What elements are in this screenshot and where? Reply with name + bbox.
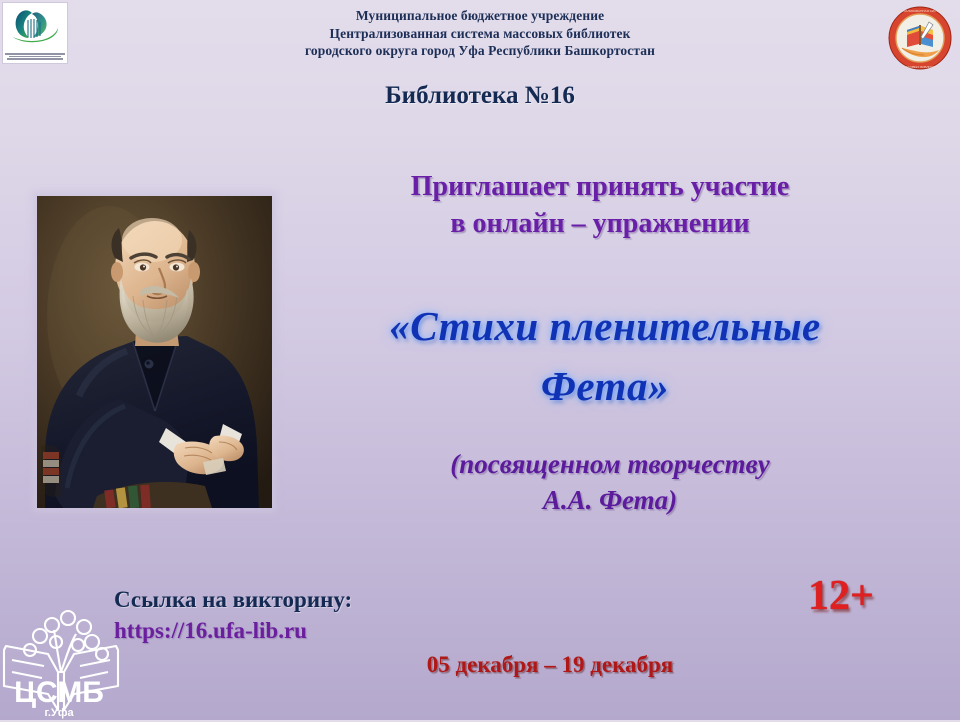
csmb-logo: ЦСМБ г.Уфа (0, 598, 126, 722)
quiz-link-label: Ссылка на викторину: (114, 585, 352, 615)
org-line-3: городского округа город Уфа Республики Б… (0, 42, 960, 60)
age-rating-badge: 12+ (808, 572, 874, 620)
library-number: Библиотека №16 (0, 82, 960, 110)
event-dates: 05 декабря – 19 декабря (290, 652, 810, 678)
invitation-line-2: в онлайн – упражнении (290, 205, 910, 242)
invitation-text: Приглашает принять участие в онлайн – уп… (290, 168, 910, 242)
csmb-abbr: ЦСМБ (14, 676, 104, 709)
quiz-link-url[interactable]: https://16.ufa-lib.ru (114, 615, 352, 646)
svg-text:МАССОВЫХ БИБЛИОТЕК: МАССОВЫХ БИБЛИОТЕК (901, 65, 939, 69)
org-line-1: Муниципальное бюджетное учреждение (0, 7, 960, 25)
org-line-2: Централизованная система массовых библио… (0, 25, 960, 43)
csmb-city: г.Уфа (44, 707, 74, 719)
event-subtitle-line-1: (посвященном творчеству (300, 446, 920, 482)
event-title: «Стихи пленительные Фета» (290, 296, 920, 416)
event-title-line-2: Фета» (290, 356, 920, 416)
invitation-line-1: Приглашает принять участие (290, 168, 910, 205)
organization-header: Муниципальное бюджетное учреждение Центр… (0, 7, 960, 60)
event-subtitle-line-2: А.А. Фета) (300, 482, 920, 518)
event-subtitle: (посвященном творчеству А.А. Фета) (300, 446, 920, 518)
fet-portrait (37, 196, 272, 508)
event-title-line-1: «Стихи пленительные (290, 296, 920, 356)
quiz-link-block: Ссылка на викторину: https://16.ufa-lib.… (114, 585, 352, 646)
